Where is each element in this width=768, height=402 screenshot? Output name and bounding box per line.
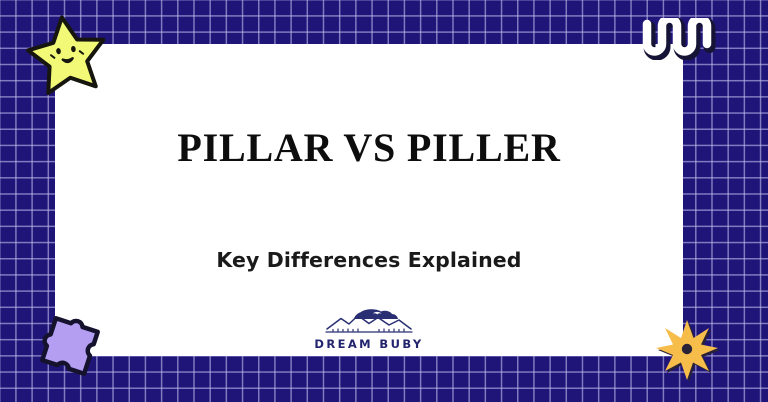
content-card: PILLAR VS PILLER Key Differences Explain… [55, 44, 683, 356]
page-title: PILLAR VS PILLER [55, 128, 683, 168]
brand-name: DREAM BUBY [314, 339, 423, 351]
sunburst-star-icon [655, 318, 723, 386]
squiggle-wave-icon [640, 18, 718, 60]
slide-canvas: PILLAR VS PILLER Key Differences Explain… [0, 0, 768, 402]
brand-logo: DREAM BUBY [55, 308, 683, 351]
smiling-star-icon [26, 12, 108, 96]
page-subtitle: Key Differences Explained [55, 250, 683, 271]
puzzle-piece-icon [30, 306, 110, 386]
mountain-landscape-icon [321, 308, 417, 338]
